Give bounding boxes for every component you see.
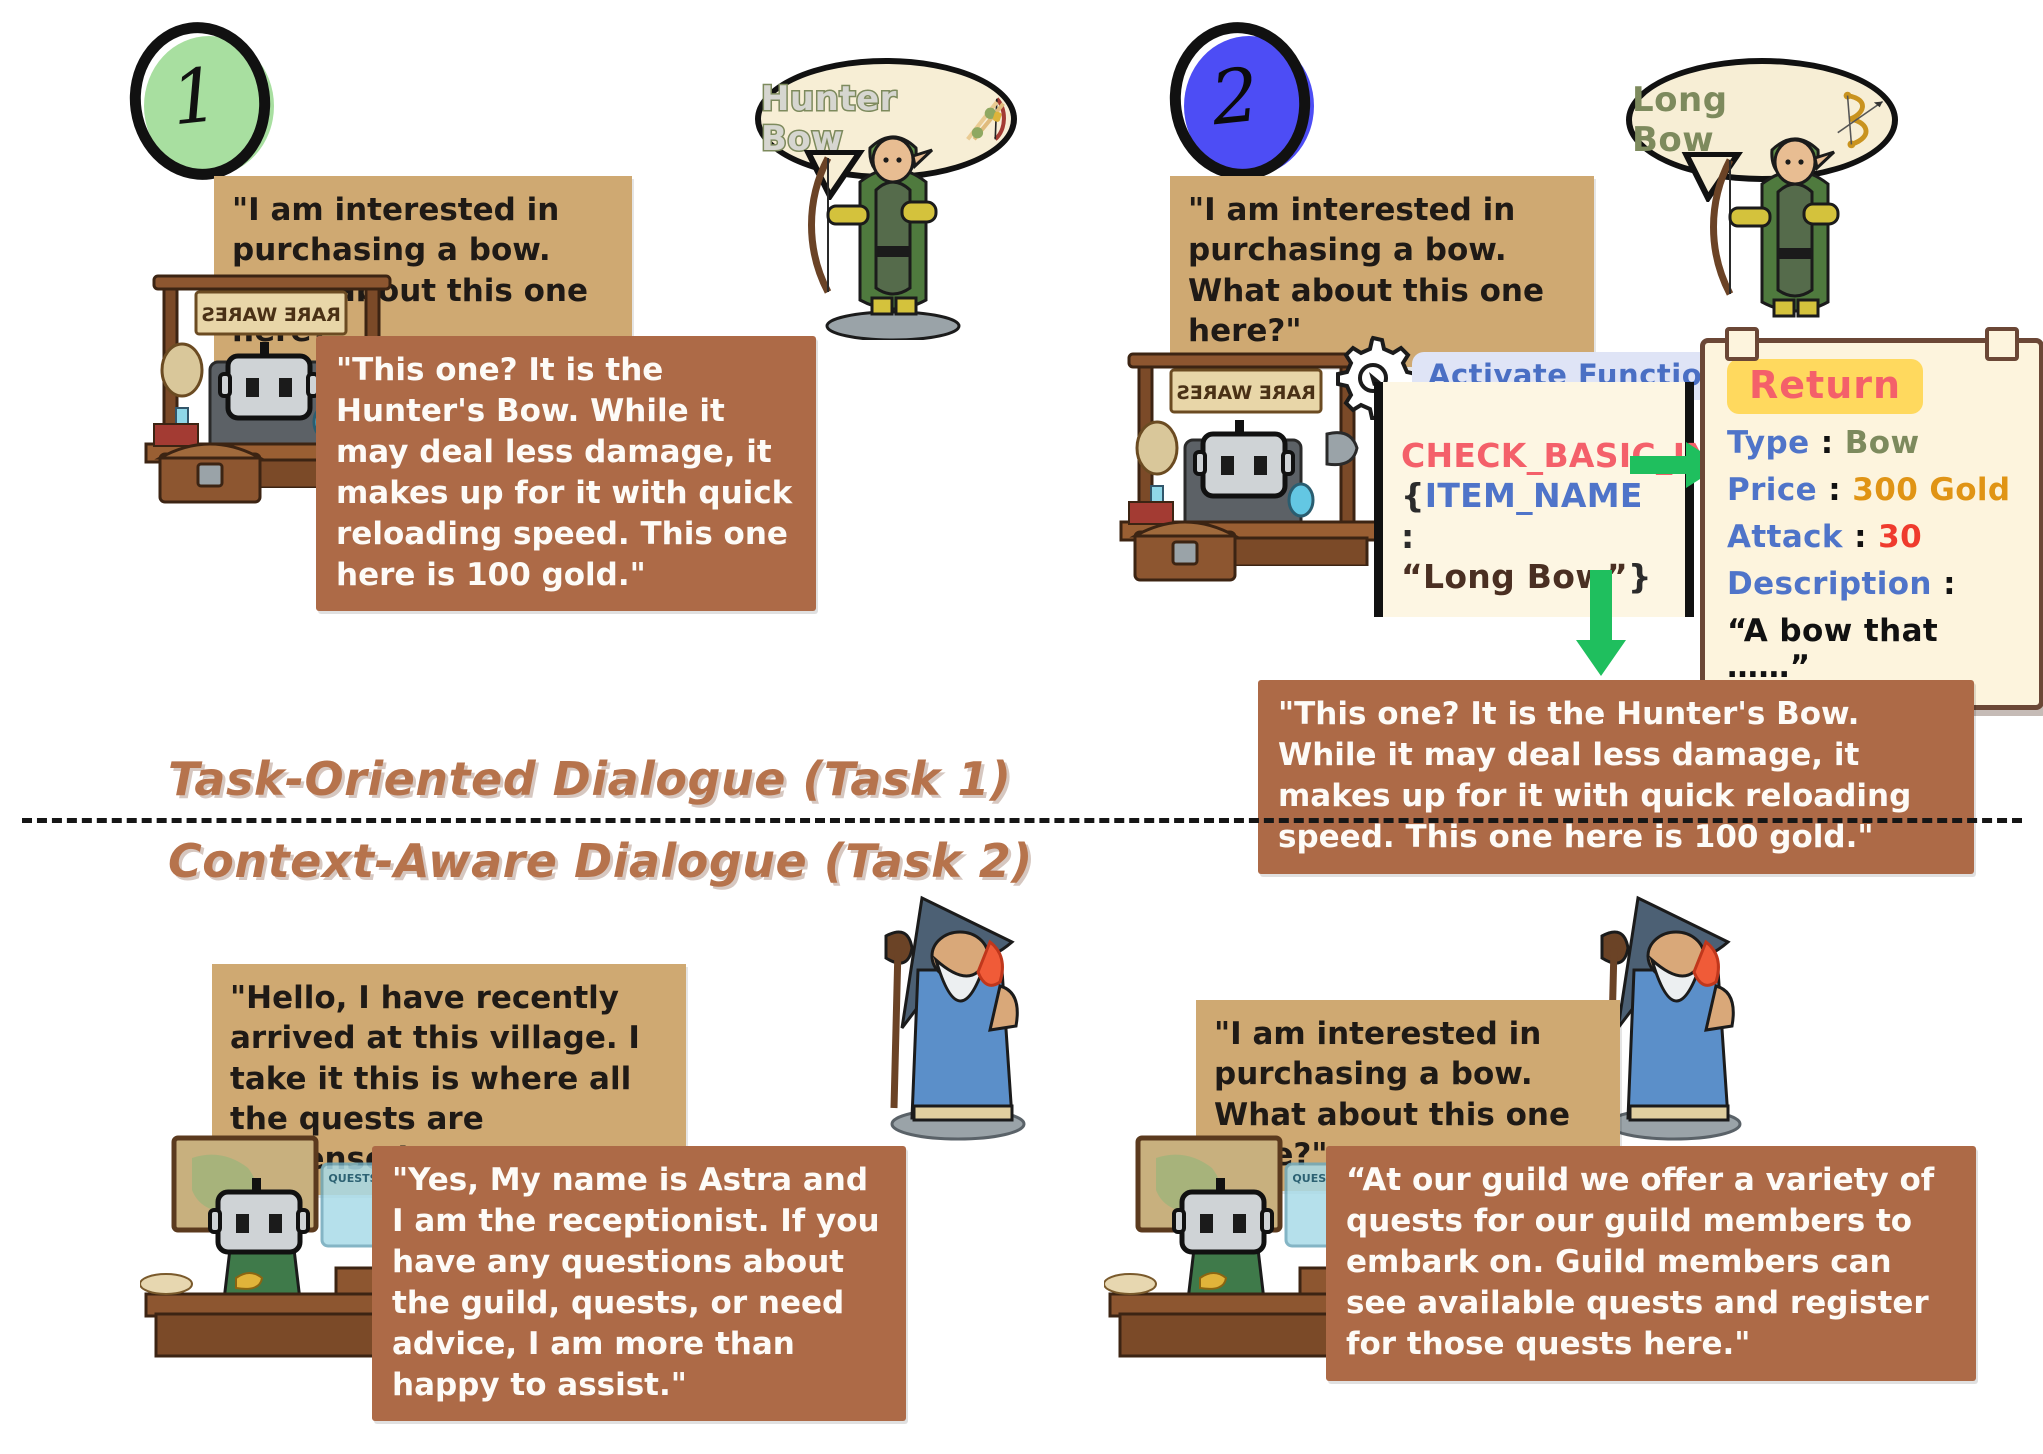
return-card-pin-left [1725, 327, 1759, 361]
section-title-task2: Context-Aware Dialogue (Task 2) [168, 834, 1033, 888]
step-badge-1-number: 1 [123, 16, 268, 179]
return-field-price-key: Price [1727, 472, 1817, 508]
figure-root: 1 Hunter Bow "I am intere [0, 0, 2043, 1454]
elf-archer-character-2 [1700, 122, 1890, 342]
npc-dialogue-4: “At our guild we offer a variety of ques… [1326, 1146, 1976, 1381]
step-badge-1: 1 [130, 22, 280, 182]
stall-sign-label: RARE WARES [201, 304, 341, 326]
npc-dialogue-3: "Yes, My name is Astra and I am the rece… [372, 1146, 906, 1421]
section-divider [22, 818, 2022, 823]
step-badge-2: 2 [1170, 22, 1320, 182]
step-badge-2-number: 2 [1163, 16, 1308, 179]
return-description-text: “A bow that ……” [1727, 613, 2019, 685]
section-title-task1: Task-Oriented Dialogue (Task 1) [168, 752, 1011, 806]
return-field-price-value: 300 Gold [1852, 472, 2010, 508]
return-title: Return [1727, 359, 1923, 414]
colon-1: : [1828, 472, 1841, 508]
npc-dialogue-2: "This one? It is the Hunter's Bow. While… [1258, 680, 1974, 874]
arg-key: ITEM_NAME [1425, 476, 1643, 515]
colon-2: : [1854, 519, 1867, 555]
return-card: Return Type : Bow Price : 300 Gold Attac… [1700, 338, 2043, 710]
return-field-attack: Attack : 30 [1727, 519, 2019, 555]
return-field-description: Description : [1727, 566, 2019, 602]
return-field-attack-value: 30 [1878, 519, 1922, 555]
colon-3: : [1943, 566, 1956, 602]
elf-archer-character-1 [798, 120, 988, 340]
return-card-pin-right [1985, 327, 2019, 361]
arg-open-brace: { [1401, 476, 1425, 515]
return-field-type: Type : Bow [1727, 425, 2019, 461]
function-name: CHECK_BASIC_INFO() [1401, 436, 1667, 476]
arrow-down-to-reply-icon [1572, 570, 1632, 682]
return-field-type-key: Type [1727, 425, 1810, 461]
treasure-chest-1 [146, 420, 276, 512]
arg-colon: : [1401, 517, 1415, 556]
treasure-chest-2 [1121, 498, 1251, 590]
npc-dialogue-1: "This one? It is the Hunter's Bow. While… [316, 336, 816, 611]
function-arg-line: {ITEM_NAME : [1401, 476, 1667, 557]
function-call-card: CHECK_BASIC_INFO() {ITEM_NAME : “Long Bo… [1374, 382, 1694, 617]
wizard-character-1 [862, 882, 1052, 1142]
stall-sign-label-2: RARE WARES [1176, 382, 1316, 404]
return-field-description-key: Description [1727, 566, 1932, 602]
colon-0: : [1821, 425, 1834, 461]
return-field-attack-key: Attack [1727, 519, 1843, 555]
return-field-price: Price : 300 Gold [1727, 472, 2019, 508]
return-field-type-value: Bow [1845, 425, 1920, 461]
quest-board-label: QUESTS [328, 1172, 377, 1185]
